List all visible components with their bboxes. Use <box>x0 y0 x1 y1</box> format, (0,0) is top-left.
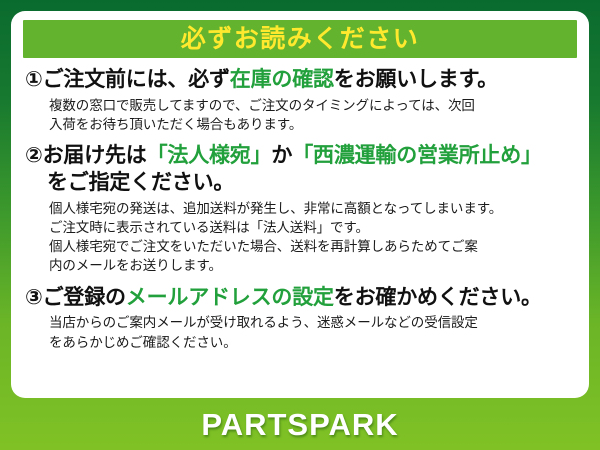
notice-item-3-body-line-1: 当店からのご案内メールが受け取れるよう、迷惑メールなどの受信設定 <box>49 313 575 332</box>
notice-item-3-body-line-2: をあらかじめご確認ください。 <box>49 333 575 352</box>
notice-item-3-body: 当店からのご案内メールが受け取れるよう、迷惑メールなどの受信設定 をあらかじめご… <box>25 313 575 351</box>
notice-list: ①ご注文前には、必ず在庫の確認をお願いします。 複数の窓口で販売してますので、ご… <box>23 67 577 352</box>
notice-item-1-body-line-1: 複数の窓口で販売してますので、ご注文のタイミングによっては、次回 <box>49 96 575 115</box>
notice-item-2-heading-highlight-2: 「西濃運輸の営業所止め」 <box>292 144 542 167</box>
notice-item-2-heading: ②お届け先は「法人様宛」か「西濃運輸の営業所止め」 をご指定ください。 <box>25 143 575 197</box>
notice-item-1-marker: ① <box>25 68 43 91</box>
notice-item-3-heading: ③ご登録のメールアドレスの設定をお確かめください。 <box>25 285 575 312</box>
notice-item-2-body-line-3: 個人様宅宛でご注文をいただいた場合、送料を再計算しあらためてご案 <box>49 237 575 256</box>
notice-item-1-heading-highlight: 在庫の確認 <box>230 68 334 91</box>
notice-item-3: ③ご登録のメールアドレスの設定をお確かめください。 当店からのご案内メールが受け… <box>25 285 575 352</box>
notice-item-2-marker: ② <box>25 144 43 167</box>
notice-item-2-body-line-2: ご注文時に表示されている送料は「法人送料」です。 <box>49 218 575 237</box>
notice-item-2-heading-highlight-1: 「法人様宛」 <box>147 144 272 167</box>
notice-item-3-marker: ③ <box>25 286 43 309</box>
notice-item-2-heading-part-3: か <box>271 144 292 167</box>
notice-item-3-heading-part-3: をお確かめください。 <box>334 286 542 309</box>
notice-item-3-heading-highlight: メールアドレスの設定 <box>126 286 334 309</box>
notice-item-2-heading-part-1: お届け先は <box>43 144 147 167</box>
notice-item-2-body-line-1: 個人様宅宛の発送は、追加送料が発生し、非常に高額となってしまいます。 <box>49 199 575 218</box>
notice-item-1-heading: ①ご注文前には、必ず在庫の確認をお願いします。 <box>25 67 575 94</box>
notice-item-2-body: 個人様宅宛の発送は、追加送料が発生し、非常に高額となってしまいます。 ご注文時に… <box>25 199 575 276</box>
notice-item-1-heading-part-3: をお願いします。 <box>334 68 498 91</box>
notice-item-1-body: 複数の窓口で販売してますので、ご注文のタイミングによっては、次回 入荷をお待ち頂… <box>25 96 575 134</box>
footer-bar: PARTSPARK <box>0 398 600 450</box>
notice-item-1: ①ご注文前には、必ず在庫の確認をお願いします。 複数の窓口で販売してますので、ご… <box>25 67 575 134</box>
notice-item-1-body-line-2: 入荷をお待ち頂いただく場合もあります。 <box>49 115 575 134</box>
notice-item-1-heading-part-1: ご注文前には、必ず <box>43 68 230 91</box>
notice-item-2-heading-line-2: をご指定ください。 <box>25 170 575 197</box>
notice-item-2: ②お届け先は「法人様宛」か「西濃運輸の営業所止め」 をご指定ください。 個人様宅… <box>25 143 575 275</box>
page-title: 必ずお読みください <box>181 27 420 52</box>
notice-card: 必ずお読みください ①ご注文前には、必ず在庫の確認をお願いします。 複数の窓口で… <box>11 11 589 398</box>
header-banner: 必ずお読みください <box>23 20 577 58</box>
brand-logo: PARTSPARK <box>201 409 398 440</box>
notice-poster: 必ずお読みください ①ご注文前には、必ず在庫の確認をお願いします。 複数の窓口で… <box>0 0 600 450</box>
notice-item-3-heading-part-1: ご登録の <box>43 286 126 309</box>
notice-item-2-body-line-4: 内のメールをお送りします。 <box>49 256 575 275</box>
